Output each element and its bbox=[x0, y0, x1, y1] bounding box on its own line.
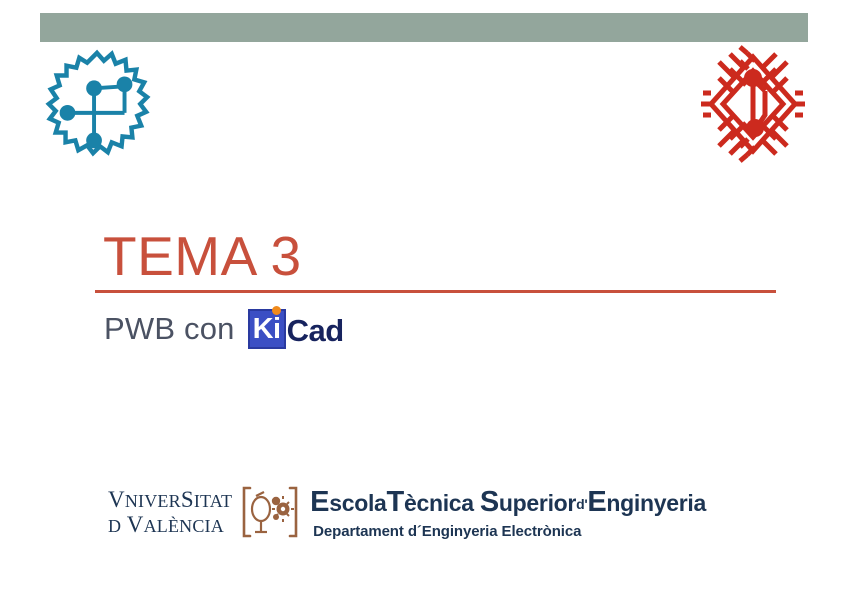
kicad-ki-text: Ki bbox=[253, 313, 281, 345]
title-underline-rule bbox=[95, 290, 776, 293]
uv-bracket-gears-icon bbox=[239, 484, 301, 540]
uv-line1-niver: NIVER bbox=[125, 491, 181, 511]
uv-wordmark-line2: D VALÈNCIA bbox=[108, 513, 232, 536]
etse-d-apostrophe: d' bbox=[576, 496, 587, 512]
kicad-orange-dot-icon bbox=[272, 306, 281, 315]
slide-canvas: TEMA 3 PWB con Ki Cad VNIVERSITAT D VALÈ… bbox=[0, 0, 848, 599]
etse-t: T bbox=[387, 486, 404, 518]
gear-circuit-icon bbox=[38, 47, 156, 163]
subtitle-row: PWB con Ki Cad bbox=[104, 307, 785, 351]
chip-diamond-icon bbox=[697, 45, 809, 163]
etse-department-line: Departament d´Enginyeria Electrònica bbox=[313, 524, 706, 539]
title-block: TEMA 3 PWB con Ki Cad bbox=[95, 228, 785, 351]
page-title: TEMA 3 bbox=[103, 228, 785, 286]
top-decorative-bar bbox=[40, 13, 808, 42]
etse-ecnica: ècnica bbox=[404, 490, 474, 516]
etse-name-line: EscolaTècnica Superiord'Enginyeria bbox=[310, 488, 706, 517]
uv-line2-d: D bbox=[108, 516, 121, 536]
uv-line2-v: V bbox=[121, 512, 143, 537]
uv-line2-alencia: ALÈNCIA bbox=[144, 516, 224, 536]
etse-s: S bbox=[480, 486, 499, 518]
uv-wordmark-line1: VNIVERSITAT bbox=[108, 488, 232, 511]
etse-nginyeria: nginyeria bbox=[606, 490, 706, 516]
kicad-cad-text: Cad bbox=[287, 315, 344, 349]
uv-wordmark: VNIVERSITAT D VALÈNCIA bbox=[108, 488, 232, 536]
uv-line1-s: S bbox=[181, 487, 194, 512]
etse-uperior: uperior bbox=[499, 490, 576, 516]
uv-line1-itat: ITAT bbox=[194, 491, 232, 511]
uv-line1-v: V bbox=[108, 487, 125, 512]
etse-scola: scola bbox=[329, 490, 386, 516]
universitat-valencia-logo: VNIVERSITAT D VALÈNCIA bbox=[108, 484, 301, 540]
subtitle-text: PWB con bbox=[104, 311, 235, 347]
etse-e2: E bbox=[587, 486, 606, 518]
etse-e1: E bbox=[310, 486, 329, 518]
footer-logos: VNIVERSITAT D VALÈNCIA bbox=[108, 484, 706, 540]
kicad-ki-badge: Ki bbox=[248, 309, 286, 349]
kicad-logo: Ki Cad bbox=[248, 309, 344, 349]
etse-logo: EscolaTècnica Superiord'Enginyeria Depar… bbox=[310, 485, 706, 539]
